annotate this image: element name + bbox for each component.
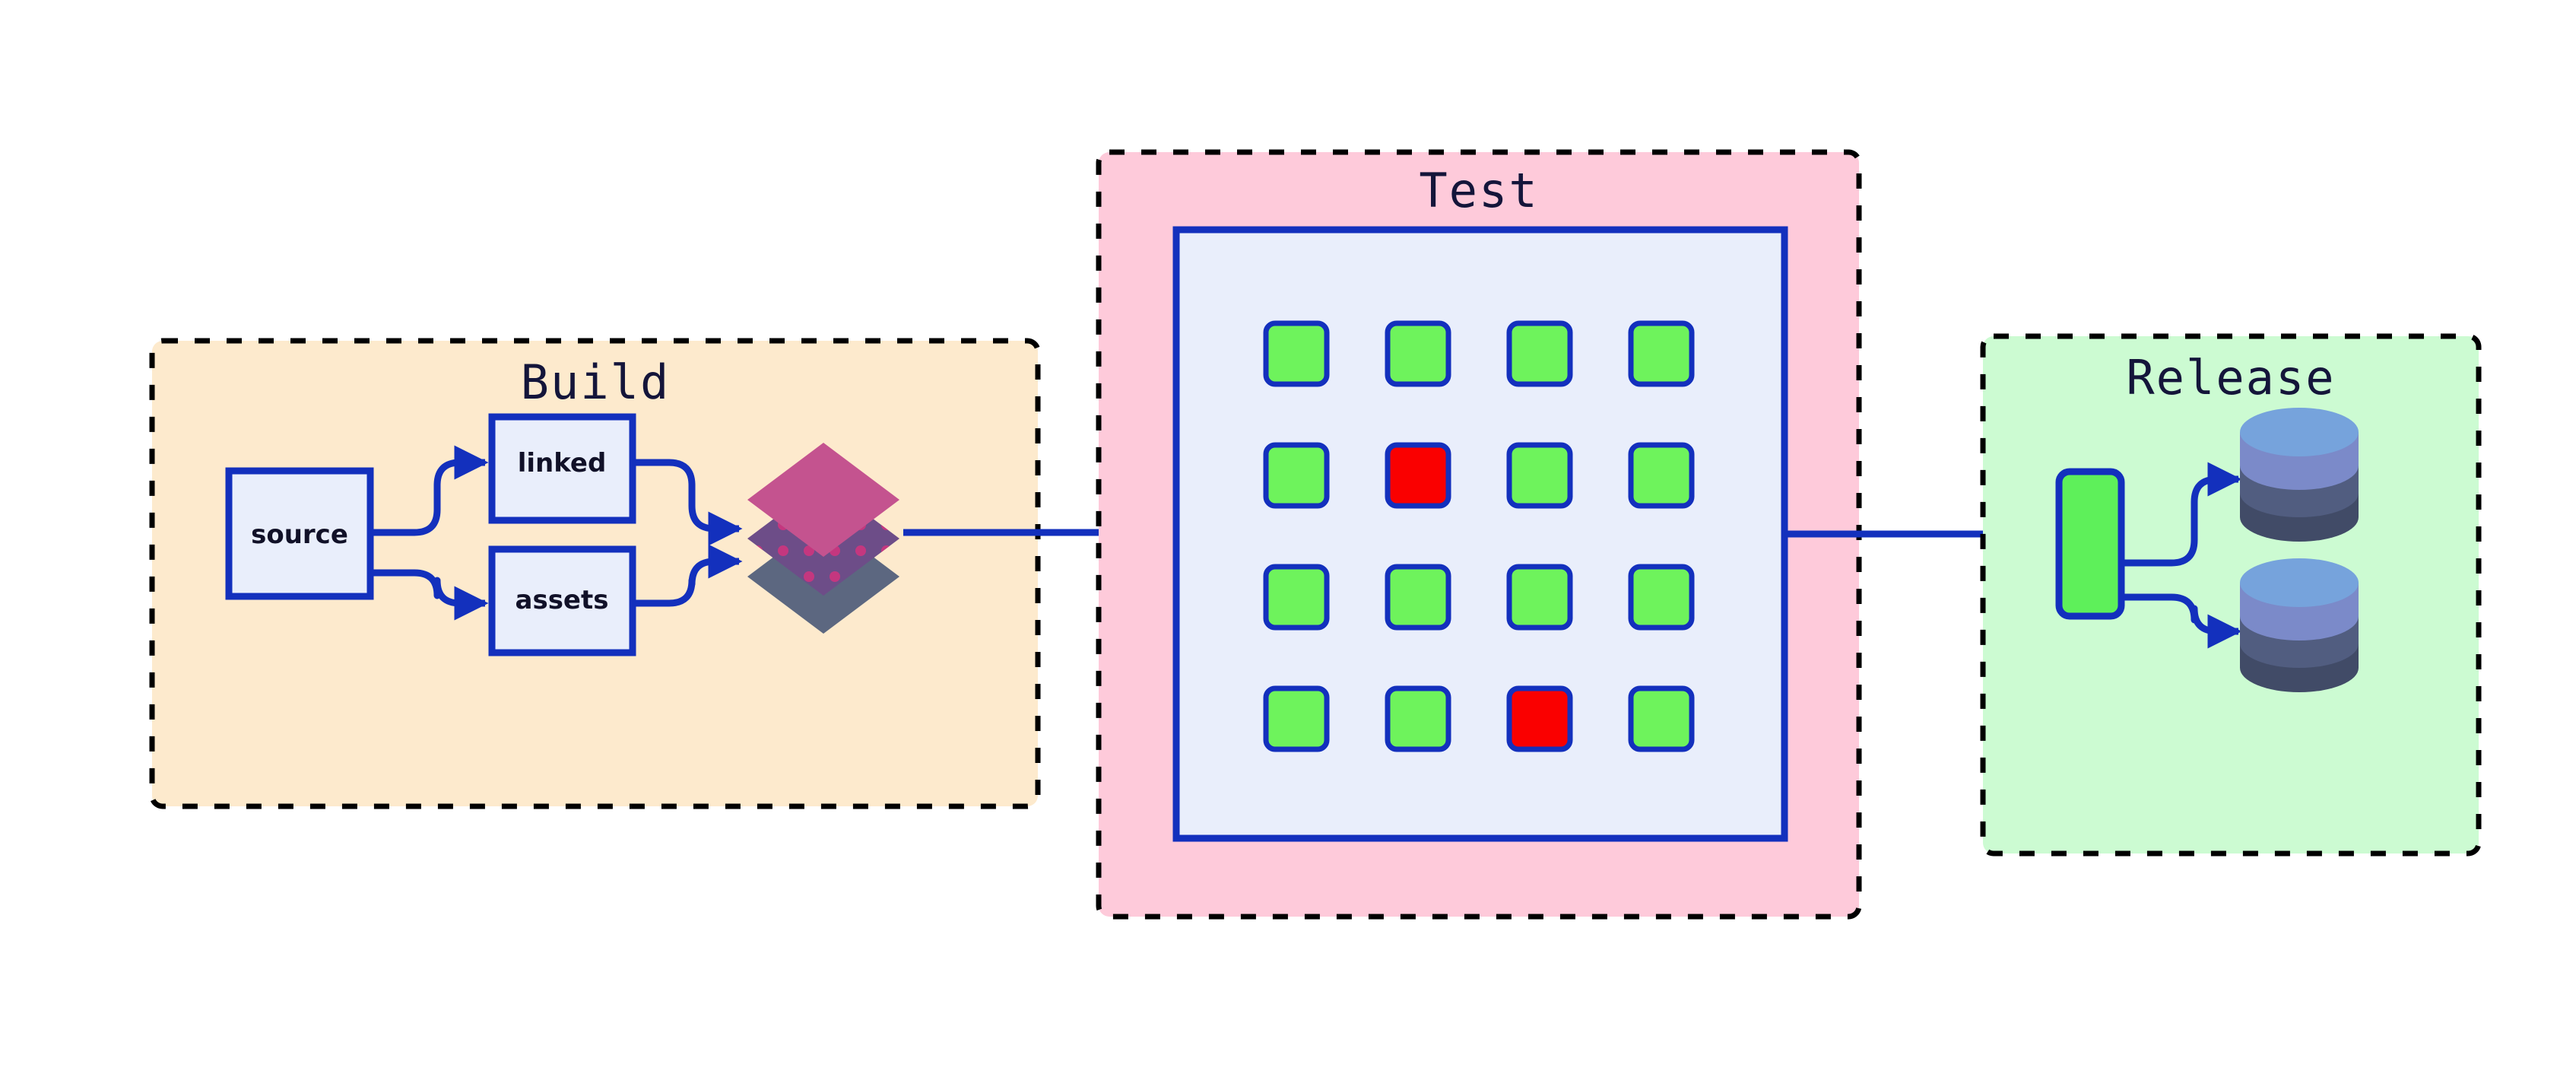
test-cell-r2c1[interactable]: [1266, 445, 1327, 506]
group-release-title: Release: [2126, 350, 2335, 405]
test-cell-r1c3[interactable]: [1509, 323, 1570, 384]
test-cell-r2c4[interactable]: [1631, 445, 1692, 506]
test-cell-r4c2[interactable]: [1388, 688, 1448, 749]
test-cell-r1c4[interactable]: [1631, 323, 1692, 384]
node-assets[interactable]: assets: [492, 549, 633, 653]
node-linked-label: linked: [518, 448, 607, 478]
group-release[interactable]: Release: [1983, 336, 2479, 853]
test-cell-r2c3[interactable]: [1509, 445, 1570, 506]
test-cell-r3c4[interactable]: [1631, 567, 1692, 628]
node-source-label: source: [251, 520, 348, 550]
diagram-canvas: Build source linked assets: [0, 0, 2576, 1068]
db1-top-disc: [2240, 408, 2359, 456]
node-deploy[interactable]: [2059, 472, 2121, 616]
test-cell-r3c3[interactable]: [1509, 567, 1570, 628]
test-cell-r4c3[interactable]: [1509, 688, 1570, 749]
node-assets-label: assets: [516, 585, 609, 615]
node-linked[interactable]: linked: [492, 417, 633, 520]
group-test-title: Test: [1419, 163, 1538, 218]
group-build[interactable]: Build source linked assets: [152, 341, 1038, 806]
test-cell-r4c1[interactable]: [1266, 688, 1327, 749]
database-cylinder-2[interactable]: [2240, 558, 2359, 692]
group-test[interactable]: Test: [1099, 152, 1859, 917]
group-build-title: Build: [521, 354, 671, 410]
node-deploy-box[interactable]: [2059, 472, 2121, 616]
test-cell-r1c1[interactable]: [1266, 323, 1327, 384]
test-cell-r2c2[interactable]: [1388, 445, 1448, 506]
database-cylinder-1[interactable]: [2240, 408, 2359, 542]
test-cell-r4c4[interactable]: [1631, 688, 1692, 749]
test-cell-r1c2[interactable]: [1388, 323, 1448, 384]
db2-top-disc: [2240, 558, 2359, 607]
node-source[interactable]: source: [229, 471, 370, 596]
test-cell-r3c2[interactable]: [1388, 567, 1448, 628]
diagram-svg: Build source linked assets: [0, 0, 2576, 1068]
test-cell-r3c1[interactable]: [1266, 567, 1327, 628]
